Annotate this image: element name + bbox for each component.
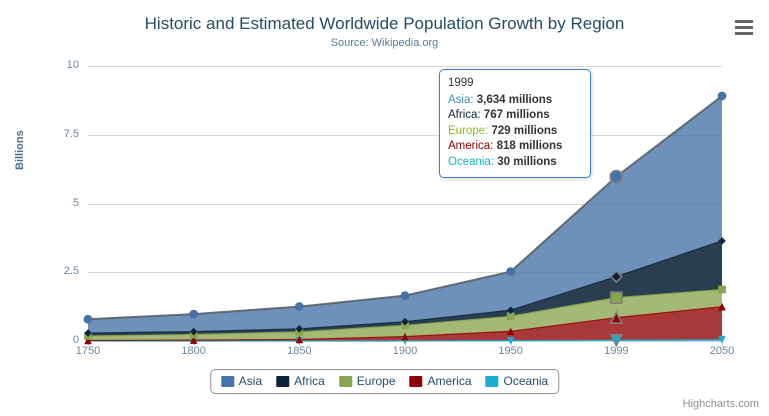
legend-label: Europe xyxy=(357,374,396,388)
x-axis-tick-1900: 1900 xyxy=(370,345,440,357)
page-title: Historic and Estimated Worldwide Populat… xyxy=(0,14,769,34)
gridline-2.5 xyxy=(88,272,722,273)
gridline-5 xyxy=(88,204,722,205)
x-axis-tick-1850: 1850 xyxy=(264,345,334,357)
legend-item-africa[interactable]: Africa xyxy=(276,374,325,388)
hamburger-bar-3 xyxy=(735,32,753,35)
hamburger-bar-2 xyxy=(735,26,753,29)
legend-label: America xyxy=(428,374,472,388)
tooltip-series-value: 729 millions xyxy=(491,125,557,137)
x-axis-tick-1999: 1999 xyxy=(581,345,651,357)
highcharts-container: Historic and Estimated Worldwide Populat… xyxy=(0,0,769,416)
tooltip-series-name: Asia: xyxy=(448,94,477,106)
tooltip-series-value: 818 millions xyxy=(497,140,563,152)
x-tick-mark-1850 xyxy=(299,341,300,346)
x-tick-mark-1800 xyxy=(194,341,195,346)
legend-swatch-africa-icon xyxy=(276,376,289,387)
gridline-7.5 xyxy=(88,135,722,136)
legend-item-europe[interactable]: Europe xyxy=(339,374,396,388)
tooltip-series-name: Europe: xyxy=(448,125,491,137)
x-axis-tick-2050: 2050 xyxy=(687,345,757,357)
tooltip-series-name: America: xyxy=(448,140,497,152)
chart-tooltip: 1999 Asia: 3,634 millionsAfrica: 767 mil… xyxy=(439,69,591,178)
x-tick-mark-1999 xyxy=(616,341,617,346)
tooltip-row-america: America: 818 millions xyxy=(448,139,582,155)
tooltip-series-name: Oceania: xyxy=(448,156,497,168)
legend-label: Asia xyxy=(239,374,262,388)
x-axis-tick-1750: 1750 xyxy=(53,345,123,357)
hamburger-bar-1 xyxy=(735,20,753,23)
x-axis-tick-1800: 1800 xyxy=(159,345,229,357)
x-tick-mark-1750 xyxy=(88,341,89,346)
tooltip-series-value: 30 millions xyxy=(497,156,556,168)
y-axis-tick-7.5: 7.5 xyxy=(19,128,79,140)
x-tick-mark-1950 xyxy=(511,341,512,346)
chart-subtitle: Source: Wikipedia.org xyxy=(0,37,769,49)
legend-swatch-oceania-icon xyxy=(486,376,499,387)
highcharts-credit[interactable]: Highcharts.com xyxy=(683,398,759,410)
y-axis-tick-10: 10 xyxy=(19,59,79,71)
tooltip-series-name: Africa: xyxy=(448,109,484,121)
legend-item-asia[interactable]: Asia xyxy=(221,374,262,388)
gridline-10 xyxy=(88,66,722,67)
legend-label: Africa xyxy=(294,374,325,388)
tooltip-row-asia: Asia: 3,634 millions xyxy=(448,93,582,109)
tooltip-row-oceania: Oceania: 30 millions xyxy=(448,155,582,171)
legend-swatch-europe-icon xyxy=(339,376,352,387)
tooltip-series-value: 3,634 millions xyxy=(477,94,552,106)
tooltip-rows: Asia: 3,634 millionsAfrica: 767 millions… xyxy=(448,93,582,171)
x-tick-mark-2050 xyxy=(722,341,723,346)
tooltip-row-africa: Africa: 767 millions xyxy=(448,108,582,124)
tooltip-series-value: 767 millions xyxy=(484,109,550,121)
legend-label: Oceania xyxy=(504,374,549,388)
chart-legend: AsiaAfricaEuropeAmericaOceania xyxy=(210,369,559,394)
legend-item-oceania[interactable]: Oceania xyxy=(486,374,549,388)
x-axis-tick-1950: 1950 xyxy=(476,345,546,357)
tooltip-header: 1999 xyxy=(448,76,582,92)
legend-swatch-america-icon xyxy=(410,376,423,387)
legend-swatch-asia-icon xyxy=(221,376,234,387)
legend-item-america[interactable]: America xyxy=(410,374,472,388)
hamburger-menu-icon[interactable] xyxy=(732,16,756,38)
plot-area xyxy=(88,66,722,341)
y-axis-tick-2.5: 2.5 xyxy=(19,265,79,277)
y-axis-tick-5: 5 xyxy=(19,197,79,209)
x-tick-mark-1900 xyxy=(405,341,406,346)
tooltip-row-europe: Europe: 729 millions xyxy=(448,124,582,140)
